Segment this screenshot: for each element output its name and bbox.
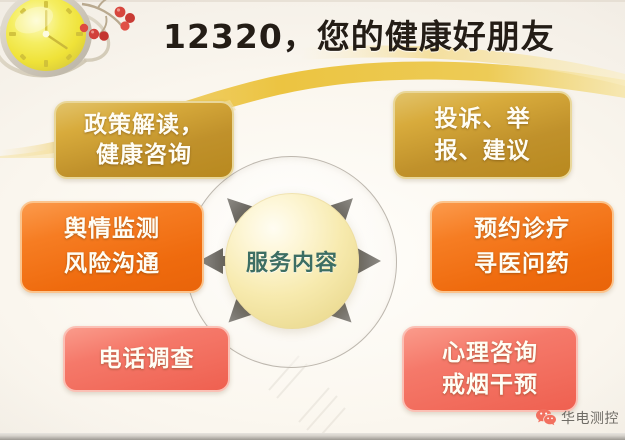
box-line-1: 预约诊疗: [474, 212, 570, 247]
service-box-psych-counsel-smoking[interactable]: 心理咨询 戒烟干预: [402, 326, 578, 412]
wechat-icon: [535, 408, 557, 428]
service-box-complaint-report[interactable]: 投诉、举 报、建议: [393, 91, 572, 179]
box-line-2: 报、建议: [435, 135, 531, 167]
box-line-1: 电话调查: [99, 345, 195, 373]
box-line-2: 健康咨询: [96, 140, 192, 170]
box-line-2: 寻医问药: [474, 247, 570, 282]
box-line-2: 戒烟干预: [442, 369, 538, 401]
watermark-label: 华电测控: [561, 408, 619, 428]
service-box-policy-consult[interactable]: 政策解读， 健康咨询: [54, 101, 234, 179]
bottom-bar: [0, 433, 625, 440]
box-line-1: 政策解读，: [84, 110, 204, 140]
box-line-1: 舆情监测: [64, 212, 160, 247]
box-line-2: 风险沟通: [64, 247, 160, 282]
service-box-telephone-survey[interactable]: 电话调查: [63, 326, 230, 392]
service-box-appointment-medical[interactable]: 预约诊疗 寻医问药: [430, 201, 614, 293]
page-title: 12320，您的健康好朋友: [163, 20, 555, 53]
box-line-1: 心理咨询: [442, 337, 538, 369]
box-line-1: 投诉、举: [435, 103, 531, 135]
center-orb-label: 服务内容: [225, 193, 359, 329]
service-box-opinion-monitoring[interactable]: 舆情监测 风险沟通: [20, 201, 204, 293]
slide-canvas: 12320，您的健康好朋友: [0, 0, 625, 440]
watermark: 华电测控: [535, 408, 619, 428]
